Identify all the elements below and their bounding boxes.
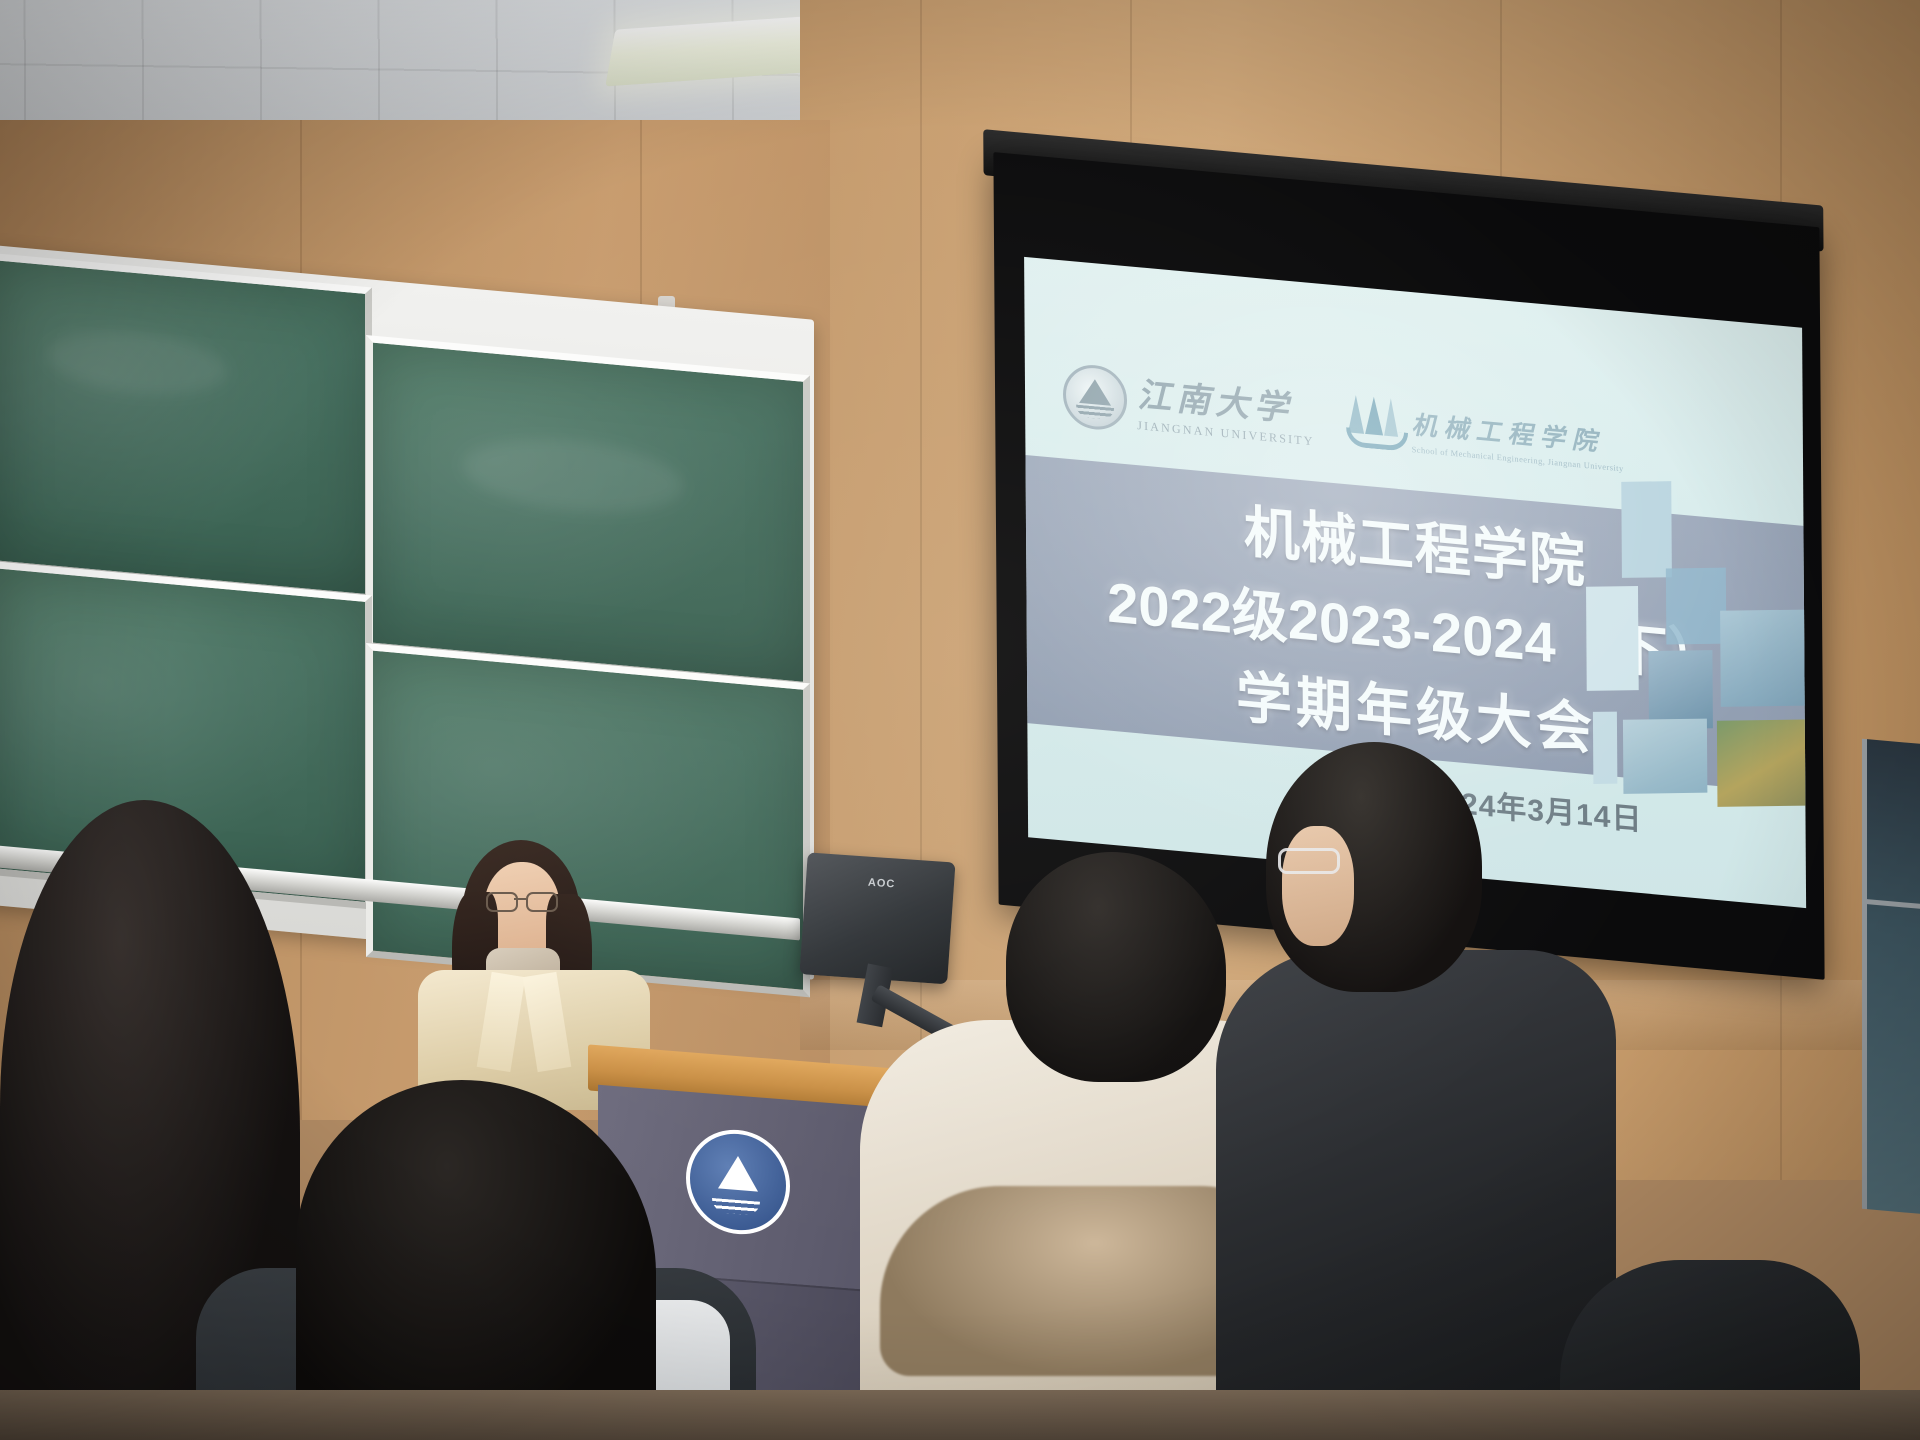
slide-decoration-block xyxy=(1666,568,1726,645)
blackboard-panel xyxy=(366,335,810,689)
floor xyxy=(0,1390,1920,1440)
slide-decoration-photo xyxy=(1720,610,1806,707)
slide-decoration-photo xyxy=(1648,650,1712,729)
slide-decoration-block xyxy=(1593,712,1617,784)
jiangnan-university-seal-icon xyxy=(1063,362,1127,432)
audience-member-face xyxy=(1282,826,1354,946)
monitor-brand-label: AOC xyxy=(867,877,895,891)
lecture-hall-photo: 江南大学 JIANGNAN UNIVERSITY 机械工程学院 School o… xyxy=(0,0,1920,1440)
jiangnan-university-logo: 江南大学 JIANGNAN UNIVERSITY xyxy=(1063,362,1315,449)
window xyxy=(1862,739,1920,1216)
school-of-mechanical-engineering-logo: 机械工程学院 School of Mechanical Engineering,… xyxy=(1344,392,1623,473)
slide-decoration-block xyxy=(1621,481,1672,578)
slide-decoration-block xyxy=(1586,586,1639,691)
audience-member-body xyxy=(1216,950,1616,1440)
blackboard-panel xyxy=(0,253,372,602)
eyeglasses-icon xyxy=(1278,848,1340,874)
slide-decoration-block xyxy=(1623,719,1707,794)
school-of-mechanical-engineering-mark-icon xyxy=(1344,392,1402,453)
eyeglasses-icon xyxy=(486,892,558,908)
slide-decoration-photo xyxy=(1717,719,1806,806)
